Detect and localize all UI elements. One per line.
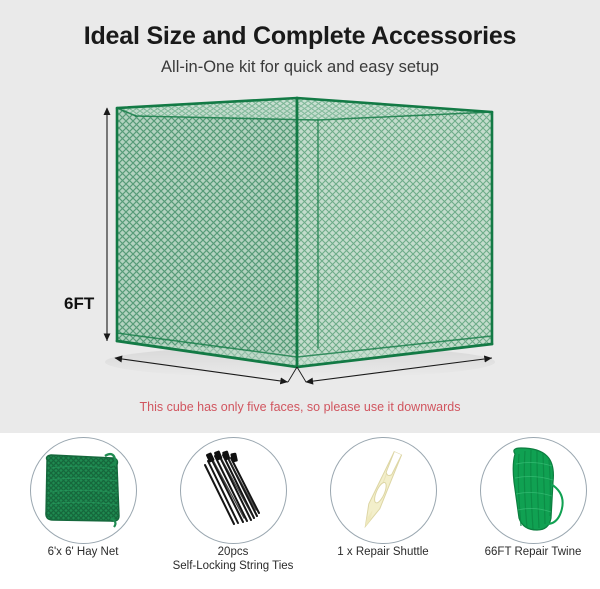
diagram-panel: Ideal Size and Complete Accessories All-… [0, 0, 600, 433]
string-ties-caption: 20pcs Self-Locking String Ties [153, 545, 313, 573]
repair-shuttle-icon [331, 438, 434, 541]
hay-net-caption-line1: 6'x 6' Hay Net [3, 545, 163, 559]
string-ties-circle [180, 437, 287, 544]
repair-shuttle-caption: 1 x Repair Shuttle [303, 545, 463, 559]
repair-twine-caption: 66FT Repair Twine [453, 545, 600, 559]
cube-diagram: 6FT 6FT 6FT [0, 86, 600, 396]
repair-twine-caption-line1: 66FT Repair Twine [453, 545, 600, 559]
cube-illustration [0, 86, 600, 396]
hay-net-circle [30, 437, 137, 544]
repair-shuttle-caption-line1: 1 x Repair Shuttle [303, 545, 463, 559]
accessory-item-hay-net: 6'x 6' Hay Net [8, 433, 158, 589]
string-ties-caption-line1: 20pcs [153, 545, 313, 559]
repair-twine-circle [480, 437, 587, 544]
accessory-item-repair-twine: 66FT Repair Twine [458, 433, 600, 589]
accessories-panel: 6'x 6' Hay Net [0, 433, 600, 589]
string-ties-caption-line2: Self-Locking String Ties [153, 559, 313, 573]
cube-face-left [117, 98, 297, 367]
page-title: Ideal Size and Complete Accessories [0, 22, 600, 51]
accessory-item-repair-shuttle: 1 x Repair Shuttle [308, 433, 458, 589]
warning-text: This cube has only five faces, so please… [0, 400, 600, 414]
height-dimension-label: 6FT [64, 294, 94, 314]
repair-twine-icon [481, 438, 584, 541]
accessory-item-string-ties: 20pcs Self-Locking String Ties [158, 433, 308, 589]
repair-shuttle-circle [330, 437, 437, 544]
page-subtitle: All-in-One kit for quick and easy setup [0, 58, 600, 77]
hay-net-caption: 6'x 6' Hay Net [3, 545, 163, 559]
string-ties-icon [181, 438, 284, 541]
cube-face-right [297, 98, 492, 367]
hay-net-icon [31, 438, 134, 541]
infographic-page: Ideal Size and Complete Accessories All-… [0, 0, 600, 589]
